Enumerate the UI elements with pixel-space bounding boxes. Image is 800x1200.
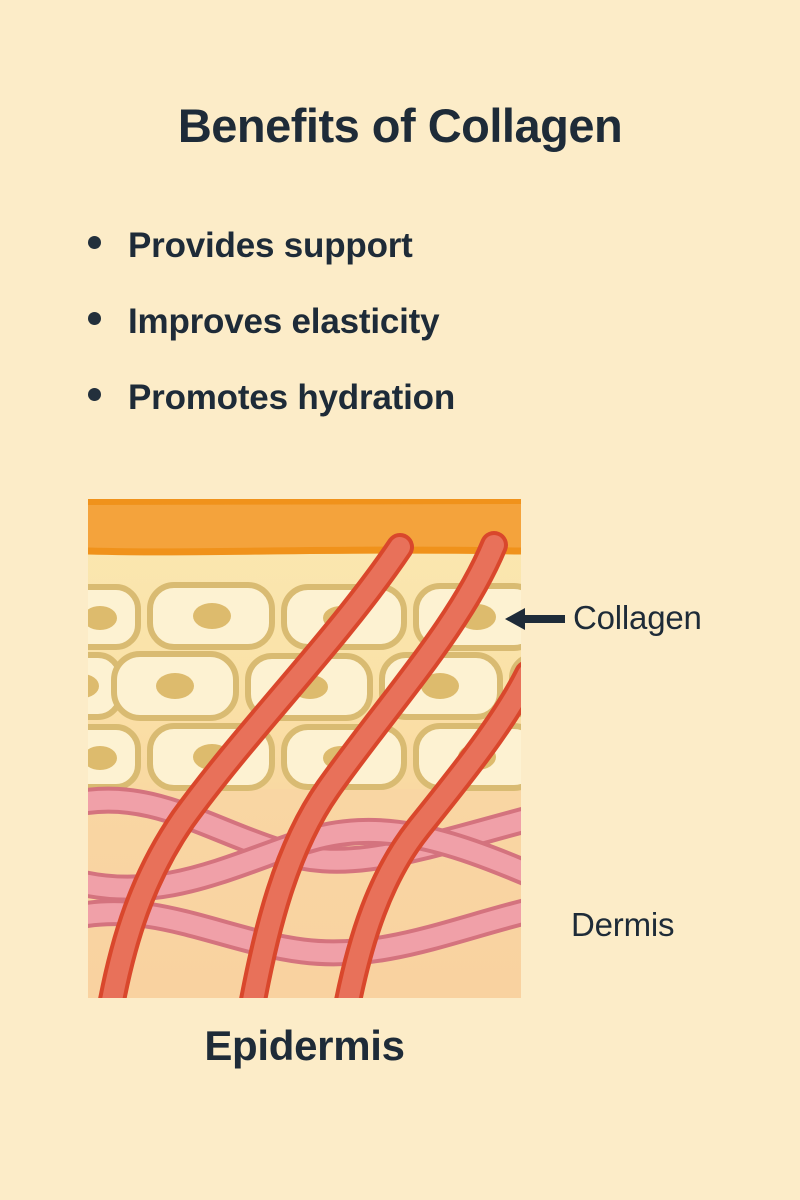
skin-cross-section-diagram [88,499,521,998]
skin-diagram-svg [88,499,521,998]
benefits-list: Provides support Improves elasticity Pro… [88,226,648,454]
dermis-label: Dermis [571,906,674,944]
epidermis-label: Epidermis [88,1022,521,1070]
benefit-label: Improves elasticity [128,302,439,342]
list-item: Improves elasticity [88,302,648,378]
stratum-corneum-band [88,500,521,553]
benefit-label: Promotes hydration [128,378,455,418]
bullet-dot-icon [88,388,101,401]
page-title: Benefits of Collagen [0,101,800,150]
arrow-left-icon [503,604,567,634]
bullet-dot-icon [88,236,101,249]
list-item: Promotes hydration [88,378,648,454]
infographic-page: Benefits of Collagen Provides support Im… [0,0,800,1200]
benefit-label: Provides support [128,226,413,266]
collagen-label: Collagen [573,599,702,637]
list-item: Provides support [88,226,648,302]
bullet-dot-icon [88,312,101,325]
